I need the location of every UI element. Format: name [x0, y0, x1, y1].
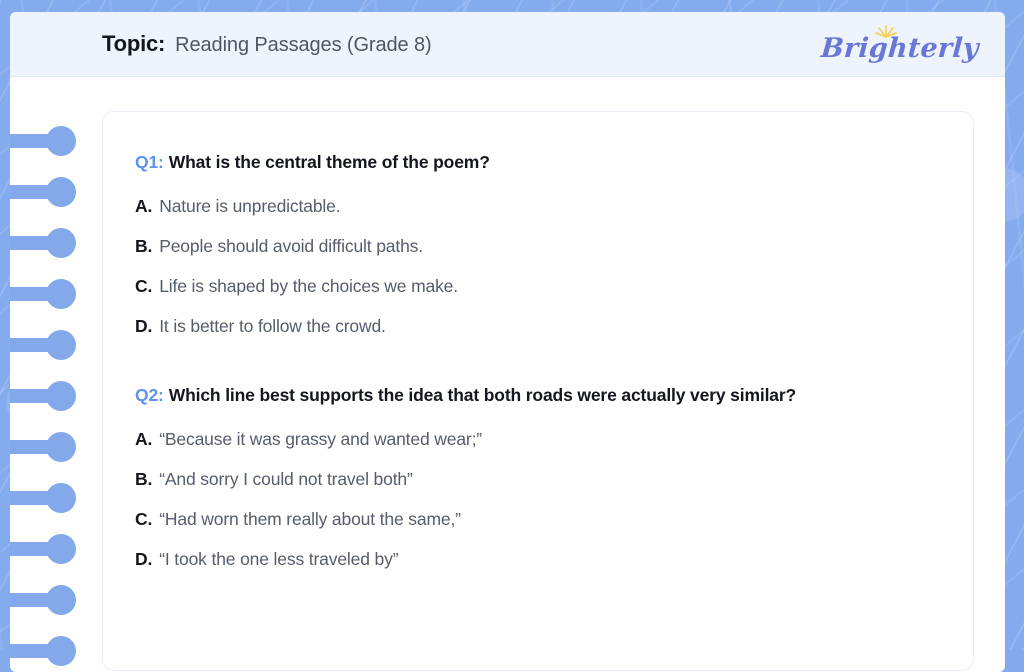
option-letter: C.: [135, 276, 152, 297]
option-text: Life is shaped by the choices we make.: [159, 276, 458, 297]
question-block-2: Q2:Which line best supports the idea tha…: [135, 383, 939, 570]
brighterly-logo: Brighterly: [821, 25, 979, 64]
option-letter: A.: [135, 429, 152, 450]
worksheet-header: Topic: Reading Passages (Grade 8) Bright…: [10, 12, 1005, 77]
spiral-binding: [10, 12, 96, 672]
spiral-ring: [10, 134, 60, 148]
spiral-ring: [10, 644, 60, 658]
option-text: “Had worn them really about the same,”: [159, 509, 461, 530]
option-2d[interactable]: D. “I took the one less traveled by”: [135, 549, 939, 570]
option-letter: B.: [135, 469, 152, 490]
option-letter: C.: [135, 509, 152, 530]
spiral-ring: [10, 491, 60, 505]
spiral-ring: [10, 338, 60, 352]
option-letter: D.: [135, 316, 152, 337]
spiral-ring: [10, 185, 60, 199]
spiral-ring: [10, 389, 60, 403]
option-letter: D.: [135, 549, 152, 570]
option-text: It is better to follow the crowd.: [159, 316, 386, 337]
option-text: “I took the one less traveled by”: [159, 549, 398, 570]
option-2a[interactable]: A. “Because it was grassy and wanted wea…: [135, 429, 939, 450]
topic-line: Topic: Reading Passages (Grade 8): [102, 31, 432, 57]
question-text-2: Which line best supports the idea that b…: [169, 385, 796, 405]
question-card: Q1:What is the central theme of the poem…: [102, 111, 974, 671]
option-1d[interactable]: D. It is better to follow the crowd.: [135, 316, 939, 337]
spiral-ring: [10, 593, 60, 607]
spiral-ring: [10, 287, 60, 301]
brand-wordmark: Brighterly: [820, 33, 980, 64]
option-letter: B.: [135, 236, 152, 257]
option-text: People should avoid difficult paths.: [159, 236, 423, 257]
topic-value: Reading Passages (Grade 8): [175, 34, 431, 57]
option-text: “Because it was grassy and wanted wear;”: [159, 429, 482, 450]
question-number-1: Q1:: [135, 152, 164, 172]
spiral-ring: [10, 236, 60, 250]
question-heading-1: Q1:What is the central theme of the poem…: [135, 150, 925, 176]
question-text-1: What is the central theme of the poem?: [169, 152, 490, 172]
spiral-ring: [10, 542, 60, 556]
option-2b[interactable]: B. “And sorry I could not travel both”: [135, 469, 939, 490]
option-letter: A.: [135, 196, 152, 217]
option-text: “And sorry I could not travel both”: [159, 469, 412, 490]
option-1c[interactable]: C. Life is shaped by the choices we make…: [135, 276, 939, 297]
question-number-2: Q2:: [135, 385, 164, 405]
option-1b[interactable]: B. People should avoid difficult paths.: [135, 236, 939, 257]
question-heading-2: Q2:Which line best supports the idea tha…: [135, 383, 925, 409]
option-text: Nature is unpredictable.: [159, 196, 340, 217]
option-2c[interactable]: C. “Had worn them really about the same,…: [135, 509, 939, 530]
option-1a[interactable]: A. Nature is unpredictable.: [135, 196, 939, 217]
worksheet-sheet: Topic: Reading Passages (Grade 8) Bright…: [10, 12, 1005, 672]
topic-label: Topic:: [102, 31, 165, 57]
question-block-1: Q1:What is the central theme of the poem…: [135, 150, 939, 337]
spiral-ring: [10, 440, 60, 454]
